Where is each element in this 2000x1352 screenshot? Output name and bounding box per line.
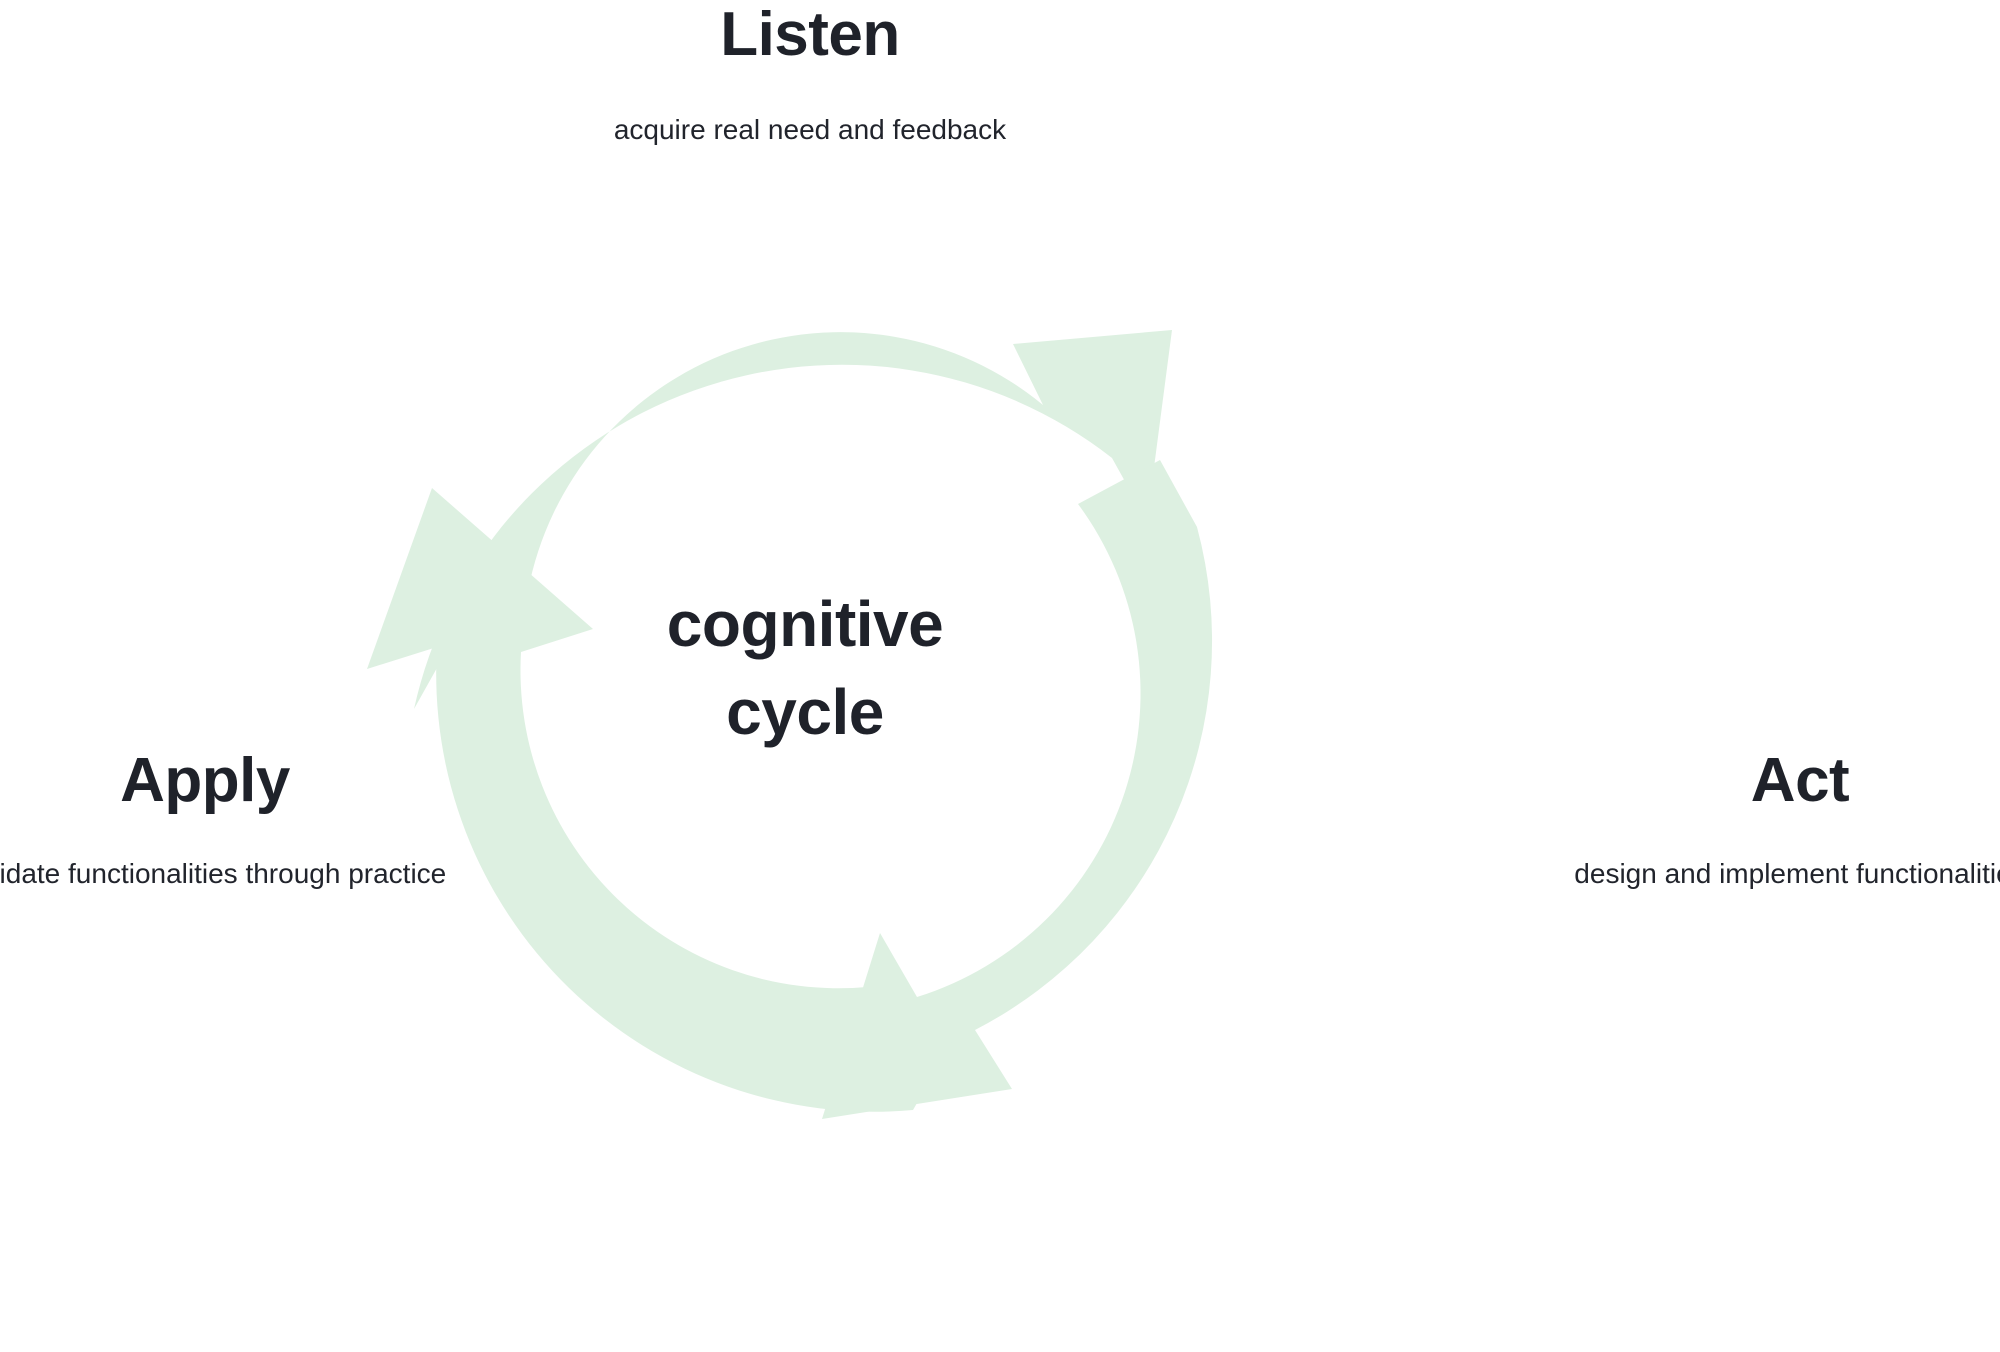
diagram-canvas: cognitive cycle Listen acquire real need… [0,0,2000,1352]
center-caption-line-1: cognitive [575,580,1035,668]
stage-listen: Listen acquire real need and feedback [500,0,1120,147]
stage-act-description: design and implement functionalities [1425,857,2000,891]
center-caption-line-2: cycle [575,668,1035,756]
stage-apply: Apply validate functionalities through p… [0,748,580,891]
center-caption: cognitive cycle [575,580,1035,757]
stage-listen-title: Listen [500,2,1120,67]
stage-listen-description: acquire real need and feedback [500,113,1120,147]
stage-act-title: Act [1425,748,2000,813]
stage-apply-description: validate functionalities through practic… [0,857,580,891]
stage-act: Act design and implement functionalities [1425,748,2000,891]
stage-apply-title: Apply [0,748,580,813]
